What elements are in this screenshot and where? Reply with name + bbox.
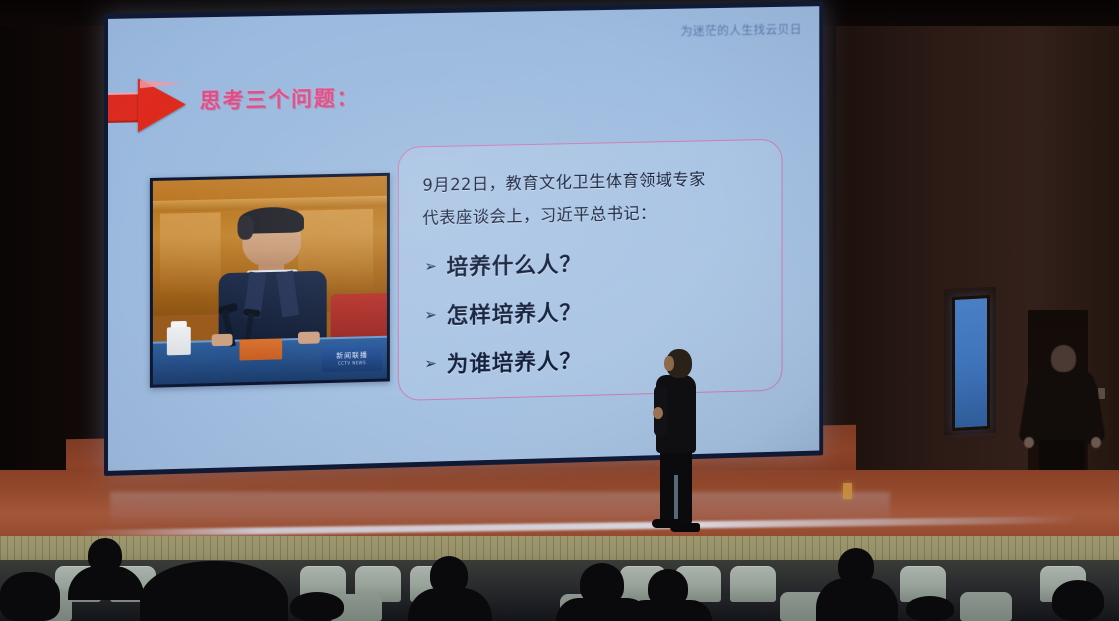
audience-head <box>290 592 344 621</box>
quote-line-1: 9月22日，教育文化卫生体育领域专家 <box>422 171 705 194</box>
quote-line-2: 代表座谈会上，习近平总书记： <box>422 204 656 226</box>
news-photo-frame: 新闻联播 CCTV NEWS <box>150 173 390 388</box>
bullet-item-3: ➢ 为谁培养人？ <box>424 344 581 380</box>
presenter-on-stage <box>650 349 706 535</box>
auditorium-scene: 为迷茫的人生找云贝日 思考三个问题： <box>0 0 1119 621</box>
right-person-left-hand <box>1024 437 1034 448</box>
audience-head <box>432 586 478 621</box>
audience-head <box>0 572 60 621</box>
audience-shoulders <box>624 600 712 621</box>
right-arrow-icon <box>108 77 190 133</box>
lit-wall-window <box>952 295 990 431</box>
bullet-item-1: ➢ 培养什么人？ <box>424 247 581 282</box>
bullet-label-3: 为谁培养人？ <box>447 344 582 379</box>
broadcast-logo-subtitle: CCTV NEWS <box>338 360 366 366</box>
right-person-right-hand <box>1091 437 1101 448</box>
arrow-bullet-icon: ➢ <box>424 257 436 275</box>
presenter-face <box>664 356 674 371</box>
bullet-item-2: ➢ 怎样培养人？ <box>424 295 581 331</box>
bullet-label-1: 培养什么人？ <box>447 247 582 282</box>
right-person-head <box>1051 345 1076 372</box>
photo-speaker-left-hand <box>212 334 233 347</box>
right-person-body <box>1031 369 1095 444</box>
photo-speaker-hair-side <box>237 215 253 240</box>
slide-title: 思考三个问题： <box>200 82 360 115</box>
broadcast-logo: 新闻联播 CCTV NEWS <box>322 344 383 372</box>
photo-speaker-right-hand <box>298 332 319 345</box>
presenter-hand <box>653 407 663 419</box>
seat <box>730 566 776 602</box>
seat <box>960 592 1012 621</box>
slide-watermark: 为迷茫的人生找云贝日 <box>681 20 802 39</box>
stage-edge-light-marker <box>843 483 852 499</box>
photo-cup <box>167 327 190 356</box>
bullet-label-2: 怎样培养人？ <box>447 295 582 330</box>
news-photo: 新闻联播 CCTV NEWS <box>153 176 387 385</box>
slide-surface: 为迷茫的人生找云贝日 思考三个问题： <box>108 6 819 471</box>
left-wall <box>0 0 120 470</box>
audience-head <box>906 596 954 621</box>
arrow-bullet-icon: ➢ <box>424 306 436 324</box>
projection-screen: 为迷茫的人生找云贝日 思考三个问题： <box>104 1 823 476</box>
audience-head <box>1052 580 1104 621</box>
arrow-highlight <box>140 79 184 88</box>
photo-nameplate <box>240 339 282 360</box>
audience-shoulders <box>816 578 898 621</box>
presenter-shoe-right <box>670 523 700 532</box>
arrow-bullet-icon: ➢ <box>424 354 436 372</box>
presenter-leg-gap <box>674 475 678 523</box>
quote-textbox: 9月22日，教育文化卫生体育领域专家 代表座谈会上，习近平总书记： ➢ 培养什么… <box>398 139 783 401</box>
photo-wall-panel-left <box>160 212 221 295</box>
